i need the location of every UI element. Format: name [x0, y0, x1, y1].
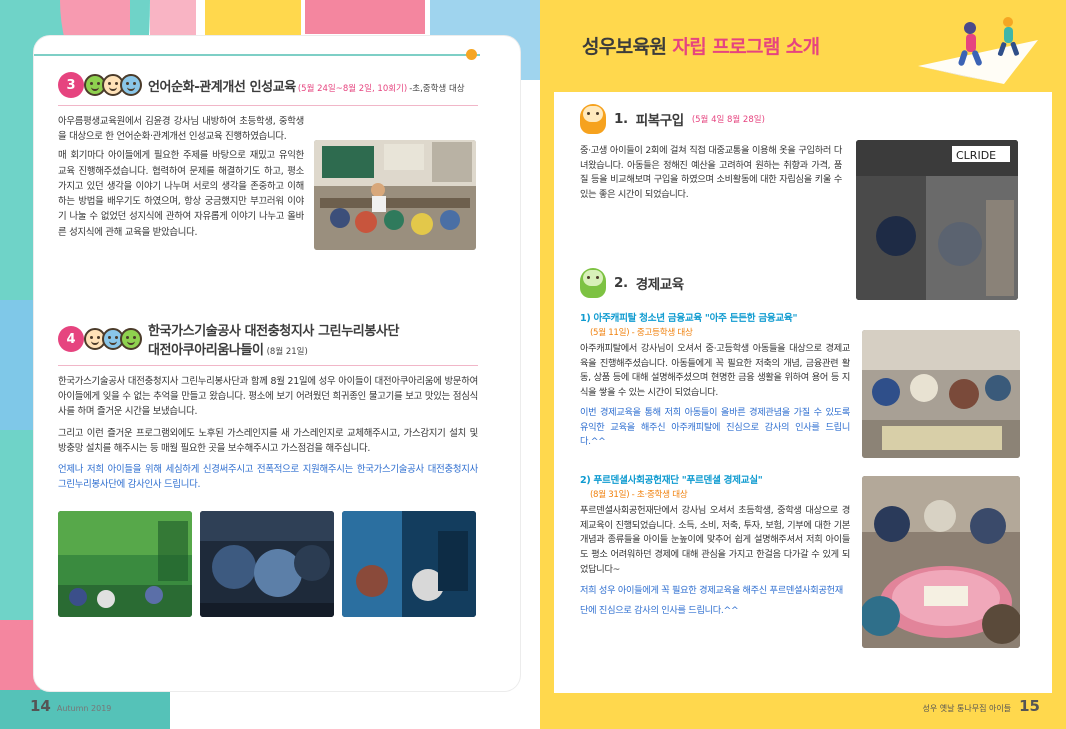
aquarium-green-tank-photo — [58, 511, 192, 617]
item-2-subheading: (8월 31일) - 초·중학생 대상 — [590, 488, 850, 500]
top-rule — [34, 54, 480, 56]
item-2-highlight: 저희 성우 아이들에게 꼭 필요한 경제교육을 해주신 푸르덴셜사회공헌재단에 … — [580, 585, 843, 617]
classroom-lecture-photo — [314, 140, 476, 250]
left-footer-label: Autumn 2019 — [57, 704, 112, 713]
right-section-1-date: (5월 4일 8월 28일) — [692, 113, 765, 125]
green-character-icon — [580, 268, 606, 298]
right-section-1-number: 1. — [614, 111, 628, 127]
right-section-1-header: 1. 피복구입 (5월 4일 8월 28일) — [580, 104, 1030, 134]
right-section-2-title: 경제교육 — [636, 273, 684, 293]
section-4-paragraph-2: 그리고 이런 즐거운 프로그램외에도 노후된 가스레인지를 새 가스레인지로 교… — [58, 426, 478, 456]
section-4-number: 4 — [58, 326, 84, 352]
left-page: 3 언어순화-관계개선 인성교육 (5월 24일~8월 2일, 10회기) -초… — [0, 0, 540, 729]
finance-education-class-photo — [862, 330, 1020, 458]
smiley-face-icon — [120, 328, 142, 350]
right-page: 성우보육원 자립 프로그램 소개 1. 피복구입 (5월 4일 — [540, 0, 1066, 729]
right-section-1-title: 피복구입 — [636, 109, 684, 129]
right-section-2-item-1: 1) 아주캐피탈 청소년 금융교육 "아주 든든한 금융교육" (5월 11일)… — [580, 310, 1038, 458]
item-2-heading: 2) 푸르덴셜사회공헌재단 "푸르덴셜 경제교실" — [580, 472, 850, 486]
section-4-face-icons — [88, 328, 142, 350]
economy-education-class-photo — [862, 476, 1020, 648]
right-section-2-header: 2. 경제교육 — [580, 268, 1038, 298]
section-3-date: (5월 24일~8월 2일, 10회기) — [298, 82, 407, 94]
section-4: 4 한국가스기술공사 대전충청지사 그린누리봉사단 대전아쿠아리움나들이 (8월… — [58, 320, 478, 617]
section-3: 3 언어순화-관계개선 인성교육 (5월 24일~8월 2일, 10회기) -초… — [58, 72, 478, 250]
title-part-1: 성우보육원 — [582, 36, 666, 58]
section-3-header: 3 언어순화-관계개선 인성교육 (5월 24일~8월 2일, 10회기) -초… — [58, 72, 478, 98]
right-footer: 성우 옛날 통나무집 아이들 15 — [923, 697, 1040, 715]
section-3-divider — [58, 105, 478, 106]
section-4-divider — [58, 365, 478, 366]
section-4-closing: 언제나 저희 아이들을 위해 세심하게 신경써주시고 전폭적으로 지원해주시는 … — [58, 462, 478, 492]
section-3-paragraph-2: 매 회기마다 아이들에게 필요한 주제를 바탕으로 재밌고 유익한 교육 진행해… — [58, 148, 304, 239]
aquarium-photo-row — [58, 511, 478, 617]
orange-character-icon — [580, 104, 606, 134]
aquarium-children-photo — [200, 511, 334, 617]
right-section-2-number: 2. — [614, 275, 628, 291]
item-1-body: 아주캐피탈에서 강사님이 오셔서 중·고등학생 아동들을 대상으로 경제교육을 … — [580, 342, 850, 401]
item-1-subheading: (5월 11일) - 중고등학생 대상 — [590, 326, 850, 338]
right-left-margin — [540, 0, 554, 729]
section-4-header: 4 한국가스기술공사 대전충청지사 그린누리봉사단 대전아쿠아리움나들이 (8월… — [58, 320, 478, 358]
section-3-number: 3 — [58, 72, 84, 98]
aquarium-blue-tank-photo — [342, 511, 476, 617]
item-1-highlight: 이번 경제교육을 통해 저희 아동들이 올바른 경제관념을 가질 수 있도록 유… — [580, 406, 850, 450]
section-3-paragraph-1: 아우름평생교육원에서 김윤경 강사님 내방하여 초등학생, 중학생을 대상으로 … — [58, 114, 304, 144]
item-1-heading: 1) 아주캐피탈 청소년 금융교육 "아주 든든한 금융교육" — [580, 310, 850, 324]
header-illustration — [908, 6, 1048, 88]
right-right-margin — [1052, 0, 1066, 729]
section-4-paragraph-1: 한국가스기술공사 대전충청지사 그린누리봉사단과 함께 8월 21일에 성우 아… — [58, 374, 478, 420]
deco-pink-shape-3 — [305, 0, 425, 34]
section-4-title-line1: 한국가스기술공사 대전충청지사 그린누리봉사단 — [148, 320, 399, 339]
section-3-face-icons — [88, 74, 142, 96]
right-section-2-item-2: 2) 푸르덴셜사회공헌재단 "푸르덴셜 경제교실" (8월 31일) - 초·중… — [580, 472, 1038, 648]
right-section-2: 2. 경제교육 1) 아주캐피탈 청소년 금융교육 "아주 든든한 금융교육" … — [580, 268, 1038, 648]
magazine-spread: 3 언어순화-관계개선 인성교육 (5월 24일~8월 2일, 10회기) -초… — [0, 0, 1066, 729]
section-4-date: (8월 21일) — [267, 345, 308, 357]
svg-text:CLRIDE: CLRIDE — [956, 149, 996, 162]
classroom-photo-graphic — [314, 140, 476, 250]
title-part-2: 자립 프로그램 소개 — [672, 36, 819, 58]
left-footer: 14 Autumn 2019 — [30, 697, 111, 715]
right-page-title: 성우보육원 자립 프로그램 소개 — [582, 32, 820, 59]
section-3-target: -초,중학생 대상 — [409, 82, 464, 94]
section-4-title-line2: 대전아쿠아리움나들이 — [148, 339, 264, 358]
section-3-title: 언어순화-관계개선 인성교육 — [148, 76, 296, 95]
left-page-number: 14 — [30, 697, 51, 715]
top-dot — [466, 49, 477, 60]
item-2-body: 푸르덴셜사회공헌재단에서 강사님 오셔서 초등학생, 중학생 대상으로 경제교육… — [580, 504, 850, 578]
right-page-number: 15 — [1019, 697, 1040, 715]
right-footer-label: 성우 옛날 통나무집 아이들 — [923, 703, 1012, 714]
smiley-face-icon — [120, 74, 142, 96]
